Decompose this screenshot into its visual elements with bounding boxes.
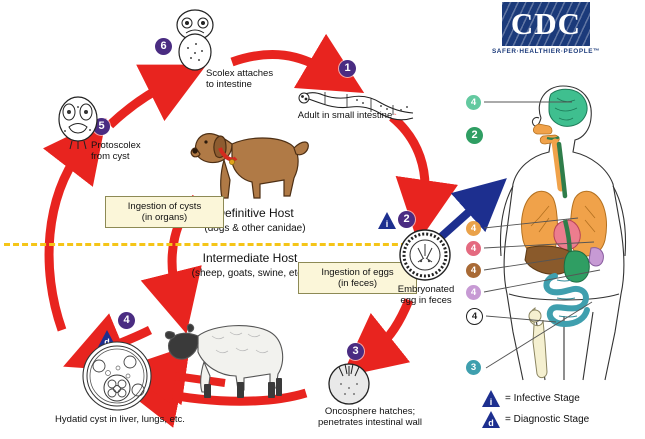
organ-leader-lines — [460, 90, 645, 390]
stage-6-label: Scolex attaches to intestine — [206, 68, 302, 90]
callout-ingestion-of-cysts: Ingestion of cysts (in organs) — [105, 196, 224, 228]
cdc-logo-box: CDC — [502, 2, 590, 46]
legend-diagnostic-text: = Diagnostic Stage — [505, 414, 589, 425]
organ-marker-lungs: 4 — [466, 221, 481, 236]
organ-marker-spleen: 4 — [466, 285, 481, 300]
organ-marker-brain: 4 — [466, 95, 481, 110]
organ-marker-ingestion: 2 — [466, 127, 483, 144]
stage-4-label: Hydatid cyst in liver, lungs, etc. — [30, 414, 210, 425]
infective-stage-icon: i — [482, 390, 500, 407]
stage-2-label: Embryonated egg in feces — [382, 284, 470, 306]
definitive-host-dog — [190, 96, 310, 206]
stage-4-badge: 4 — [118, 312, 135, 329]
cdc-logo-tagline: SAFER·HEALTHIER·PEOPLE™ — [486, 48, 606, 55]
hydatid-cyst-illustration — [72, 340, 162, 412]
diagnostic-stage-icon: d — [482, 411, 500, 428]
stage-6-badge: 6 — [155, 38, 172, 55]
organ-marker-liver: 4 — [466, 263, 481, 278]
organ-marker-bone: 4 — [466, 308, 483, 325]
cdc-logo-text: CDC — [502, 2, 590, 46]
cdc-logo: CDC SAFER·HEALTHIER·PEOPLE™ — [502, 2, 606, 55]
scolex-illustration — [172, 8, 218, 70]
oncosphere-illustration — [325, 358, 373, 406]
stage-2-badge: 2 — [398, 211, 415, 228]
stage-1-badge: 1 — [339, 60, 356, 77]
life-cycle-diagram: 6 Scolex attaches to intestine 1 — [0, 0, 645, 439]
infective-stage-marker-2: i — [378, 212, 396, 229]
host-divider — [4, 243, 434, 246]
embryonated-egg-illustration — [398, 228, 452, 282]
legend-row-diagnostic: d = Diagnostic Stage — [482, 411, 589, 428]
stage-5-label: Protoscolex from cyst — [91, 140, 171, 162]
stage-3-label: Oncosphere hatches; penetrates intestina… — [292, 406, 448, 428]
organ-marker-intestine: 3 — [466, 360, 481, 375]
legend: i = Infective Stage d = Diagnostic Stage — [482, 390, 589, 432]
legend-row-infective: i = Infective Stage — [482, 390, 589, 407]
intermediate-host-sheep — [160, 306, 290, 401]
organ-marker-heart: 4 — [466, 241, 481, 256]
legend-infective-text: = Infective Stage — [505, 393, 580, 404]
